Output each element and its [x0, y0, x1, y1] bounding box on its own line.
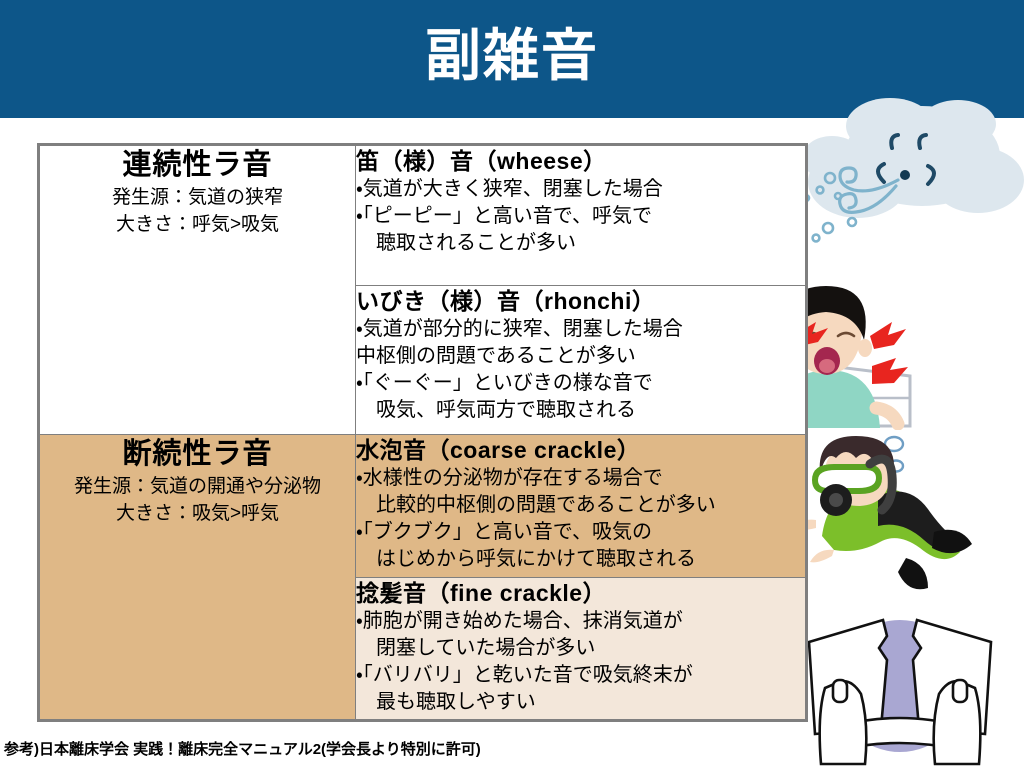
sound-cell-coarse-crackle: 水泡音（coarse crackle） ・水様性の分泌物が存在する場合で 比較的… [356, 435, 806, 578]
category-title: 連続性ラ音 [40, 146, 355, 184]
sound-detail-line: はじめから呼気にかけて聴取される [356, 546, 805, 573]
sound-cell-fine-crackle: 捻髪音（fine crackle） ・肺胞が開き始めた場合、抹消気道が 閉塞して… [356, 578, 806, 720]
source-credit: 参考)日本離床学会 実践！離床完全マニュアル2(学会長より特別に許可) [4, 740, 481, 760]
category-title: 断続性ラ音 [40, 435, 355, 473]
sound-detail-line: 最も聴取しやすい [356, 689, 805, 716]
sound-detail-line: ・水様性の分泌物が存在する場合で [356, 465, 805, 492]
tearing-paper-illustration [795, 608, 1005, 768]
sound-detail-line: ・「バリバリ」と乾いた音で吸気終末が [356, 662, 805, 689]
sound-detail-line: ・気道が大きく狭窄、閉塞した場合 [356, 176, 805, 203]
sound-detail-line: 比較的中枢側の問題であることが多い [356, 492, 805, 519]
category-source: 発生源：気道の開通や分泌物 [40, 473, 355, 500]
sound-detail-line: ・肺胞が開き始めた場合、抹消気道が [356, 608, 805, 635]
page-title: 副雑音 [0, 22, 1024, 90]
sound-title-coarse-crackle: 水泡音（coarse crackle） [356, 435, 805, 465]
category-loudness: 大きさ：呼気>吸気 [40, 211, 355, 238]
category-source: 発生源：気道の狭窄 [40, 184, 355, 211]
sound-detail-line: 中枢側の問題であることが多い [356, 343, 805, 370]
sound-detail-line: ・「ピーピー」と高い音で、呼気で [356, 203, 805, 230]
category-cell-discontinuous: 断続性ラ音 発生源：気道の開通や分泌物 大きさ：吸気>呼気 [40, 435, 356, 720]
sound-title-rhonchi: いびき（様）音（rhonchi） [356, 286, 805, 316]
sound-detail-line: ・「ブクブク」と高い音で、吸気の [356, 519, 805, 546]
sound-detail-line: 吸気、呼気両方で聴取される [356, 397, 805, 424]
adventitious-sounds-table: 連続性ラ音 発生源：気道の狭窄 大きさ：呼気>吸気 笛（様）音（wheese） … [37, 143, 808, 722]
table-row: 連続性ラ音 発生源：気道の狭窄 大きさ：呼気>吸気 笛（様）音（wheese） … [40, 146, 806, 286]
scuba-diver-illustration [786, 424, 976, 604]
wind-cloud-illustration [772, 96, 1024, 306]
sound-detail-line: ・「ぐーぐー」といびきの様な音で [356, 370, 805, 397]
sound-title-fine-crackle: 捻髪音（fine crackle） [356, 578, 805, 608]
category-loudness: 大きさ：吸気>呼気 [40, 500, 355, 527]
category-cell-continuous: 連続性ラ音 発生源：気道の狭窄 大きさ：呼気>吸気 [40, 146, 356, 435]
sound-detail-line: 聴取されることが多い [356, 230, 805, 257]
sound-detail-line: 閉塞していた場合が多い [356, 635, 805, 662]
sound-cell-wheeze: 笛（様）音（wheese） ・気道が大きく狭窄、閉塞した場合 ・「ピーピー」と高… [356, 146, 806, 286]
sound-title-wheeze: 笛（様）音（wheese） [356, 146, 805, 176]
sound-detail-line: ・気道が部分的に狭窄、閉塞した場合 [356, 316, 805, 343]
sound-cell-rhonchi: いびき（様）音（rhonchi） ・気道が部分的に狭窄、閉塞した場合 中枢側の問… [356, 286, 806, 435]
table-row: 断続性ラ音 発生源：気道の開通や分泌物 大きさ：吸気>呼気 水泡音（coarse… [40, 435, 806, 578]
